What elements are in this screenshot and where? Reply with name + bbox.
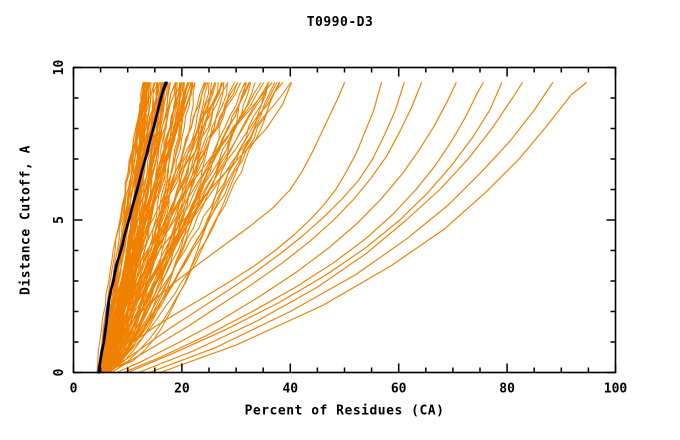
x-tick-label: 60 xyxy=(391,382,407,397)
y-tick-label: 5 xyxy=(52,216,67,224)
x-tick-label: 20 xyxy=(174,382,190,397)
x-tick-label: 40 xyxy=(282,382,298,397)
x-tick-label: 100 xyxy=(604,382,628,397)
chart-page: T0990-D3 0204060801000510Percent of Resi… xyxy=(0,0,680,440)
y-axis-title: Distance Cutoff, A xyxy=(19,145,34,295)
y-tick-label: 0 xyxy=(52,368,67,376)
x-axis-title: Percent of Residues (CA) xyxy=(245,404,445,419)
x-tick-label: 80 xyxy=(499,382,515,397)
y-tick-label: 10 xyxy=(52,60,67,76)
x-tick-label: 0 xyxy=(70,382,78,397)
plot-area: 0204060801000510Percent of Residues (CA)… xyxy=(0,0,680,440)
